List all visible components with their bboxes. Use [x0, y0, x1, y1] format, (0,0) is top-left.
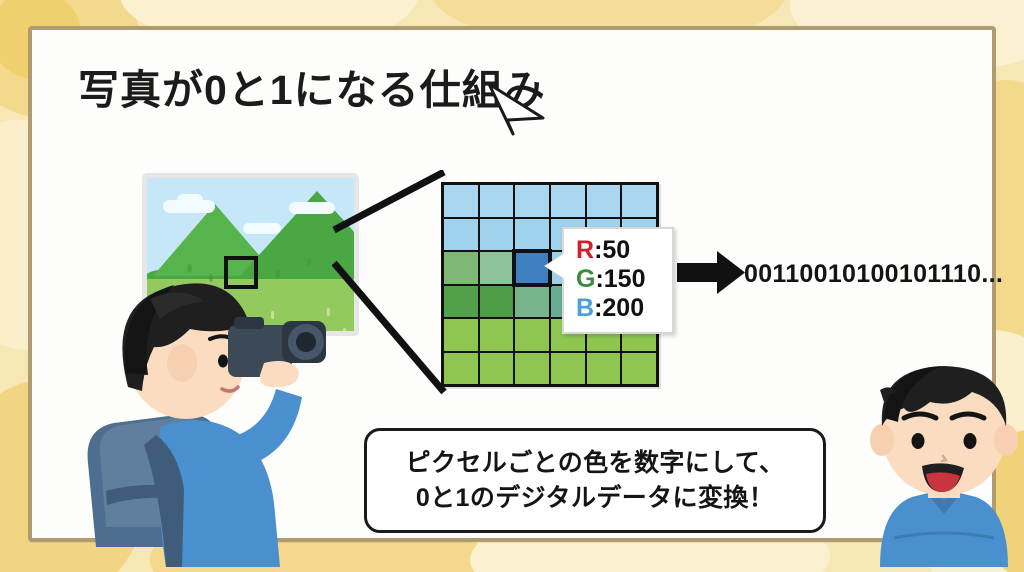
pixel-cell: [480, 185, 514, 217]
pixel-cell: [515, 219, 549, 251]
pixel-cell: [480, 219, 514, 251]
blue-channel-letter: B: [576, 294, 594, 322]
pixel-cell: [480, 353, 514, 385]
speech-bubble-line-1: ピクセルごとの色を数字にして、: [406, 446, 785, 481]
slide-card: 写真が0と1になる仕組み: [28, 26, 996, 542]
photo-cloud: [289, 202, 335, 214]
green-channel-letter: G: [576, 265, 595, 293]
pixel-cell: [515, 353, 549, 385]
pixel-cell: [515, 252, 549, 284]
pixel-cell: [480, 319, 514, 351]
boy-character: [854, 352, 1024, 567]
pixel-cell: [622, 185, 656, 217]
pixel-cell: [444, 185, 478, 217]
pixel-cell: [551, 185, 585, 217]
right-arrow-icon: [677, 251, 745, 294]
pixel-cell: [587, 185, 621, 217]
pixel-cell: [444, 319, 478, 351]
speech-bubble-line-2: 0と1のデジタルデータに変換！: [416, 481, 774, 516]
pixel-cell: [480, 252, 514, 284]
pixel-cell: [551, 353, 585, 385]
pixel-cell: [515, 319, 549, 351]
pixel-cell: [587, 353, 621, 385]
binary-data-text: 00110010100101110...: [744, 260, 1003, 289]
photo-tree-speck: [187, 264, 192, 273]
pixel-cell: [622, 353, 656, 385]
pixel-cell: [444, 353, 478, 385]
speech-bubble-tail: [487, 82, 545, 136]
rgb-red-line: R:50: [576, 236, 662, 265]
photographer-character: [82, 277, 332, 567]
page-title: 写真が0と1になる仕組み: [78, 56, 546, 116]
slide-canvas: 写真が0と1になる仕組み: [0, 0, 1024, 572]
rgb-green-line: G:150: [576, 265, 662, 294]
blue-channel-value: :200: [594, 294, 644, 322]
speech-bubble: ピクセルごとの色を数字にして、 0と1のデジタルデータに変換！: [364, 428, 826, 533]
rgb-value-callout: R:50 G:150 B:200: [562, 227, 674, 334]
photo-cloud: [177, 194, 203, 206]
pixel-cell: [515, 185, 549, 217]
red-channel-letter: R: [576, 236, 594, 264]
pixel-cell: [444, 219, 478, 251]
callout-tail: [545, 253, 565, 279]
photo-cloud: [243, 223, 281, 234]
photo-tree-speck: [307, 258, 311, 266]
pixel-cell: [480, 286, 514, 318]
red-channel-value: :50: [594, 236, 630, 264]
rgb-blue-line: B:200: [576, 294, 662, 323]
green-channel-value: :150: [595, 265, 645, 293]
pixel-cell: [444, 286, 478, 318]
pixel-cell: [444, 252, 478, 284]
pixel-cell: [515, 286, 549, 318]
